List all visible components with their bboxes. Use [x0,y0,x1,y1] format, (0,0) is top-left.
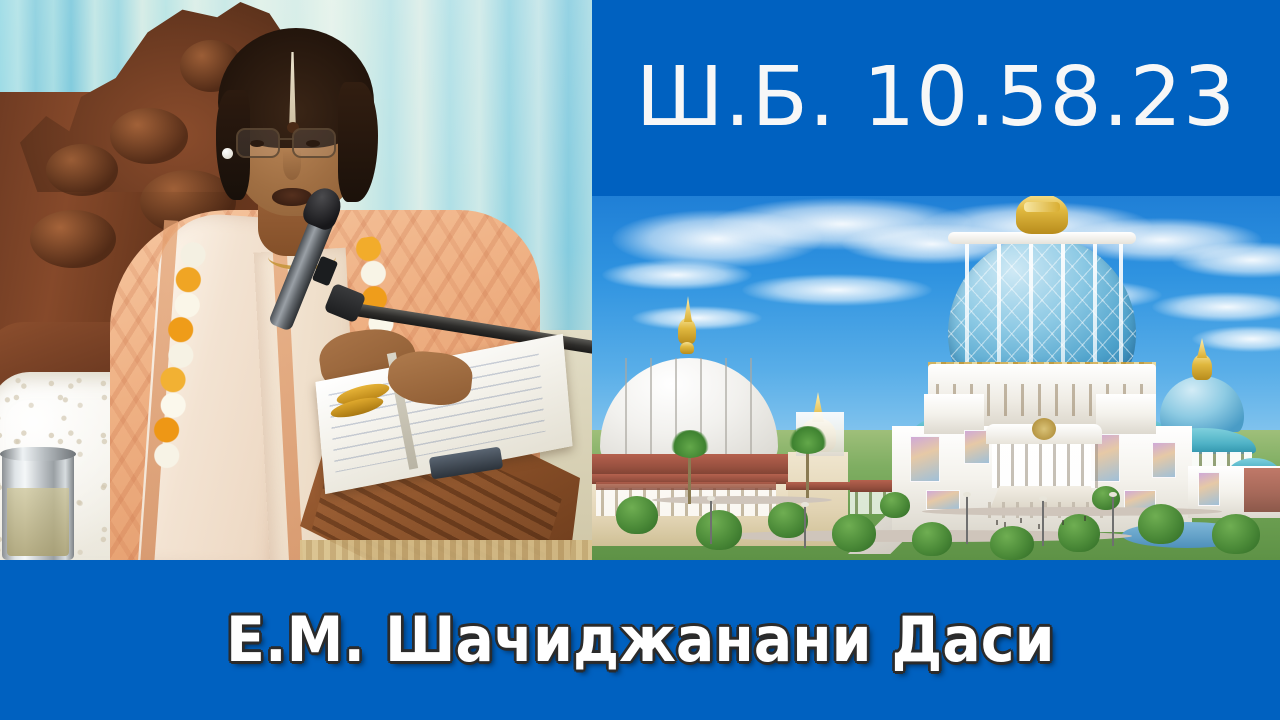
facade-right-wing [1096,394,1156,434]
lamp-head [801,502,809,507]
visitor-figure [1020,518,1022,523]
tree [1092,486,1120,510]
lamp-post [710,500,712,544]
lamp-head [707,496,715,501]
palm-fronds [788,426,828,454]
title-bar: Ш.Б. 10.58.23 [592,0,1280,196]
wing-mural [1198,472,1220,506]
temple-rendering-photo [592,196,1280,560]
visitor-figure [996,520,998,525]
eye-right [306,140,320,147]
visitor-figure [1004,522,1006,527]
lamp-post [1042,500,1044,546]
tree [1058,514,1100,552]
tree [616,496,658,534]
lamp-post [966,496,968,544]
speaker-name-caption: Е.М. Шачиджанани Даси [226,609,1055,671]
facade-mural [926,490,960,510]
title-text: Ш.Б. 10.58.23 [636,57,1236,139]
tree [696,510,742,550]
visitor-figure [1038,524,1040,529]
carving-motif [46,144,118,196]
tree [1212,514,1260,554]
side-blue-dome [1160,376,1244,432]
facade-mural [910,436,940,482]
kalash-ring [1024,202,1060,212]
carving-motif [110,108,188,164]
eye-left [250,140,264,147]
earring [222,148,233,159]
steel-cup [2,452,74,560]
tree [990,526,1034,560]
cloud [1152,292,1280,322]
lamp-head [1039,496,1047,501]
wing-terracotta-block [1244,468,1280,512]
cup-rim [0,447,76,461]
speaker-photo [0,0,592,560]
cup-liquid [7,488,69,556]
lamp-post [804,506,806,548]
facade-left-wing [924,394,984,434]
floor-mat [300,540,592,560]
portico-columns [992,444,1098,488]
nose [283,150,301,180]
carving-motif [30,210,116,268]
tree [832,514,876,552]
visitor-figure [1062,520,1064,525]
eyeglasses-bridge [280,138,294,140]
cloud [742,274,932,306]
tree [1138,504,1184,544]
facade-mural [1152,442,1176,478]
caption-bar: Е.М. Шачиджанани Даси [0,560,1280,720]
portico-medallion [1032,418,1056,440]
tree [768,502,808,538]
tower-band [786,482,850,490]
lamp-head [963,492,971,497]
cloud [602,260,752,290]
lamp-head [1109,492,1117,497]
tree [912,522,952,556]
lamp-post [1112,496,1114,546]
video-thumbnail: Ш.Б. 10.58.23 [0,0,1280,720]
cloud [632,306,762,330]
tree [880,492,910,518]
palm-fronds [670,430,710,458]
visitor-figure [1084,516,1086,521]
golden-kalash-base [680,342,694,354]
hall-arch-band [596,482,776,490]
cloud [1192,326,1280,352]
